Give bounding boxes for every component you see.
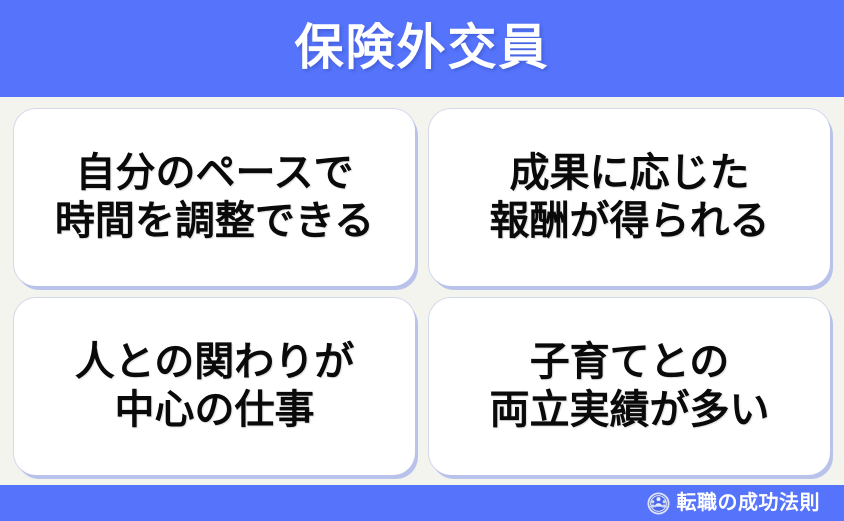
benefit-card-1: 自分のペースで 時間を調整できる (14, 109, 415, 286)
infographic-poster: 保険外交員 自分のペースで 時間を調整できる 成果に応じた 報酬が得られる 人と… (0, 0, 844, 521)
footer-bar: 転職の成功法則 (0, 485, 844, 521)
benefit-card-4: 子育てとの 両立実績が多い (429, 298, 830, 475)
brand-name-label: 転職の成功法則 (677, 493, 821, 513)
benefit-card-2-text: 成果に応じた 報酬が得られる (490, 150, 770, 244)
page-title: 保険外交員 (294, 24, 549, 73)
benefit-card-3: 人との関わりが 中心の仕事 (14, 298, 415, 475)
benefit-card-3-text: 人との関わりが 中心の仕事 (75, 339, 355, 433)
benefit-card-2: 成果に応じた 報酬が得られる (429, 109, 830, 286)
benefit-card-1-text: 自分のペースで 時間を調整できる (55, 150, 374, 244)
card-grid: 自分のペースで 時間を調整できる 成果に応じた 報酬が得られる 人との関わりが … (0, 97, 844, 485)
benefit-card-4-text: 子育てとの 両立実績が多い (490, 339, 770, 433)
people-badge-icon (647, 492, 670, 515)
header-bar: 保険外交員 (0, 0, 844, 97)
brand-lockup: 転職の成功法則 (647, 492, 821, 515)
